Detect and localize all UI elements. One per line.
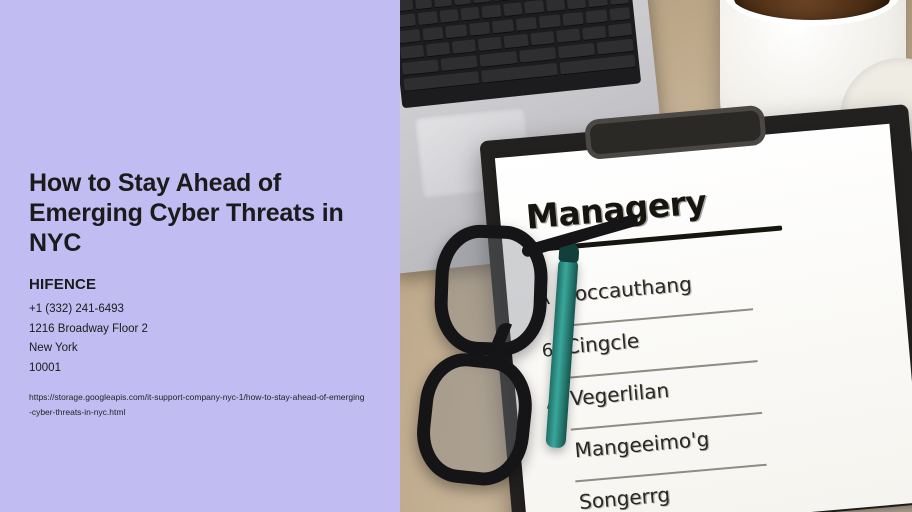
key <box>492 19 514 34</box>
desk-photo: Managery A Boccauthang 6 Cingcle A Veger… <box>400 0 912 512</box>
key <box>545 0 565 13</box>
key <box>609 0 629 6</box>
key <box>515 17 537 32</box>
key <box>597 39 634 56</box>
key <box>492 0 510 2</box>
promo-card: How to Stay Ahead of Emerging Cyber Thre… <box>0 0 912 512</box>
key <box>503 2 523 17</box>
key <box>504 34 528 49</box>
key <box>585 9 607 24</box>
cup-rim <box>724 0 900 26</box>
address-line-1: 1216 Broadway Floor 2 <box>29 320 389 340</box>
key <box>473 0 491 4</box>
company-name: HIFENCE <box>29 276 389 293</box>
key <box>469 22 491 37</box>
key <box>434 0 452 8</box>
source-url[interactable]: https://storage.googleapis.com/it-suppor… <box>29 390 365 420</box>
key <box>480 51 517 68</box>
key <box>609 7 631 22</box>
key <box>562 12 584 27</box>
key <box>478 37 502 52</box>
key <box>454 0 472 6</box>
key <box>439 9 459 24</box>
key <box>460 7 480 22</box>
key <box>445 24 467 39</box>
key <box>402 59 439 76</box>
key <box>415 0 433 10</box>
key <box>418 11 438 26</box>
key <box>441 55 478 72</box>
key <box>400 0 413 12</box>
key <box>482 4 502 19</box>
page-title: How to Stay Ahead of Emerging Cyber Thre… <box>29 168 387 258</box>
phone-number: +1 (332) 241-6493 <box>29 300 389 320</box>
key <box>400 29 420 44</box>
key <box>558 43 595 60</box>
eyeglasses <box>404 217 644 498</box>
key <box>452 39 476 54</box>
key <box>519 47 556 64</box>
address-line-2: New York <box>29 339 389 359</box>
address-line-3: 10001 <box>29 359 389 379</box>
text-block: How to Stay Ahead of Emerging Cyber Thre… <box>29 168 389 420</box>
key <box>524 0 544 15</box>
key <box>400 45 424 60</box>
key <box>530 31 554 46</box>
key <box>567 0 587 10</box>
key <box>588 0 608 8</box>
key <box>539 14 561 29</box>
key <box>426 42 450 57</box>
key <box>422 27 444 42</box>
key <box>400 13 416 28</box>
key <box>608 23 632 38</box>
key <box>556 28 580 43</box>
key <box>582 26 606 41</box>
left-info-panel: How to Stay Ahead of Emerging Cyber Thre… <box>0 0 400 512</box>
